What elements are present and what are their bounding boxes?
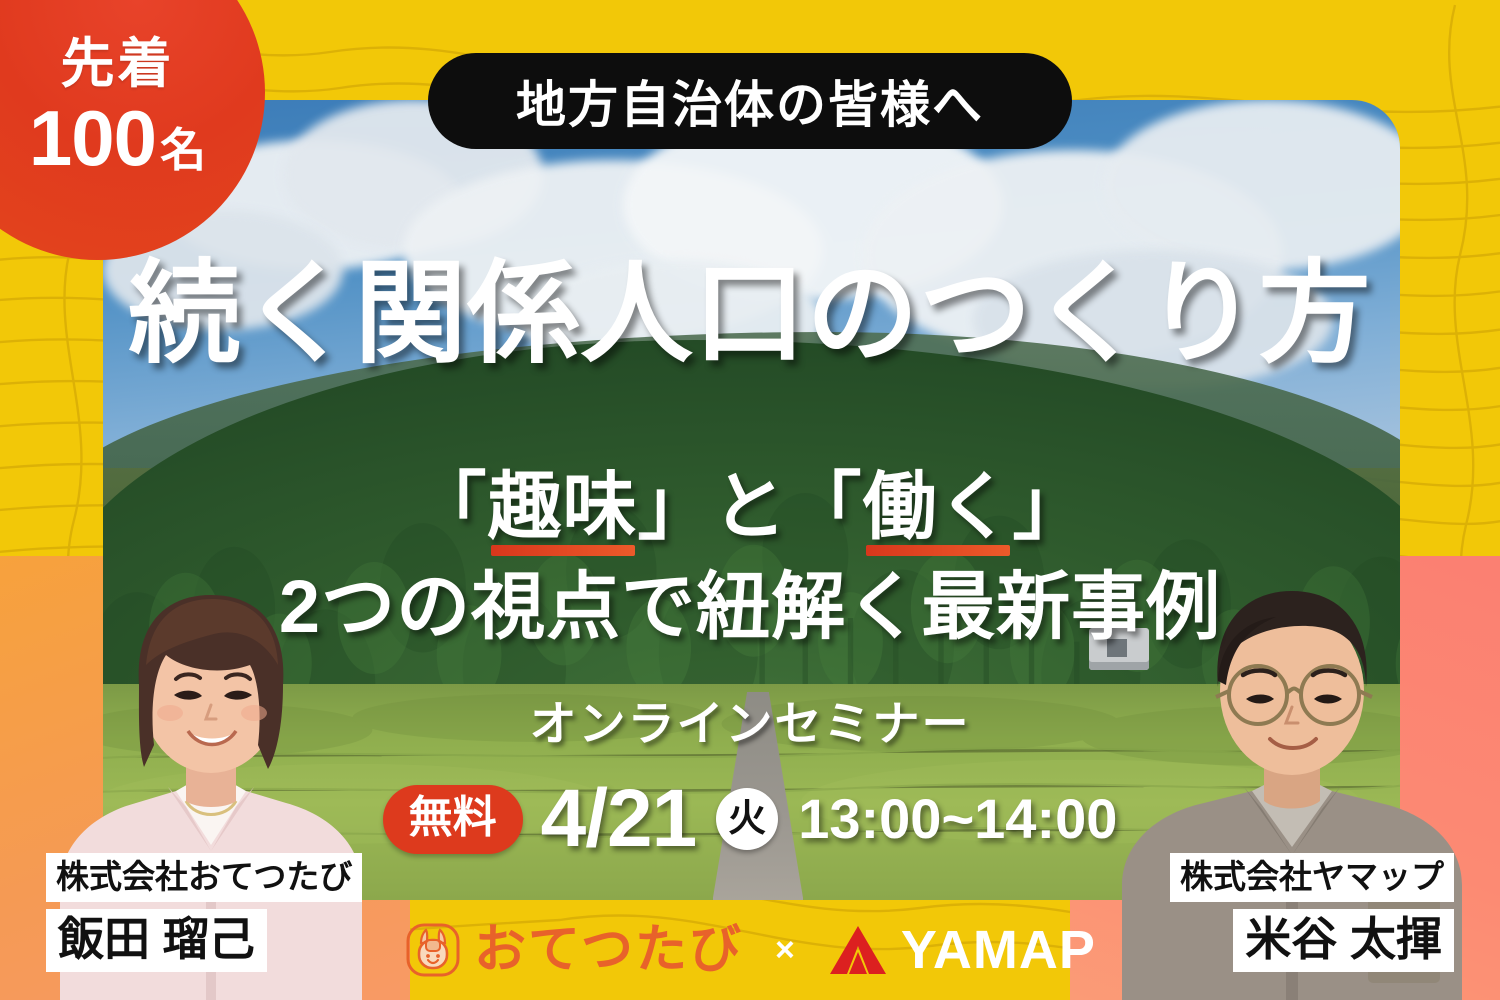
subtitle-line-1: 「趣味」と「働く」 [0,470,1500,544]
format-label: オンラインセミナー [0,700,1500,747]
subtitle-keyword-work: 働く [863,470,1013,544]
audience-pill-label: 地方自治体の皆様へ [516,65,984,137]
event-date: 4/21 [541,778,697,860]
seminar-banner: 先着 100 名 地方自治体の皆様へ 続く関係人口のつくり方 「趣味」と「働く」… [0,0,1500,1000]
subtitle-open-quote-1: 「 [413,465,488,548]
subtitle-connector: 」と「 [638,465,863,548]
speaker-right-company: 株式会社ヤマップ [1170,853,1454,902]
main-title: 続く関係人口のつくり方 [0,258,1500,370]
event-time: 13:00~14:00 [798,791,1117,847]
logo-separator-icon: × [775,933,795,967]
subtitle-keyword-hobby: 趣味 [488,470,638,544]
partner-logo-strip: おてつたび × YAMAP [0,914,1500,986]
subtitle-close-quote-2: 」 [1013,465,1088,548]
otetsutabi-wordmark: おてつたび [474,924,743,976]
otetsutabi-logo: おてつたび [404,921,743,979]
badge-label: 先着 [61,37,175,91]
event-date-row: 無料 4/21 火 13:00~14:00 [0,778,1500,860]
subtitle-line-2: 2つの視点で紐解く最新事例 [0,570,1500,644]
speaker-left-company: 株式会社おてつたび [46,853,362,902]
free-badge: 無料 [383,785,523,854]
badge-count: 100 [29,99,156,177]
audience-pill: 地方自治体の皆様へ [428,53,1072,149]
backpack-character-icon [404,921,462,979]
badge-unit: 名 [160,127,206,173]
day-of-week-badge: 火 [716,788,778,850]
yamap-wordmark: YAMAP [901,923,1096,977]
yamap-logo: YAMAP [827,922,1096,978]
red-tent-triangle-icon [827,922,889,978]
